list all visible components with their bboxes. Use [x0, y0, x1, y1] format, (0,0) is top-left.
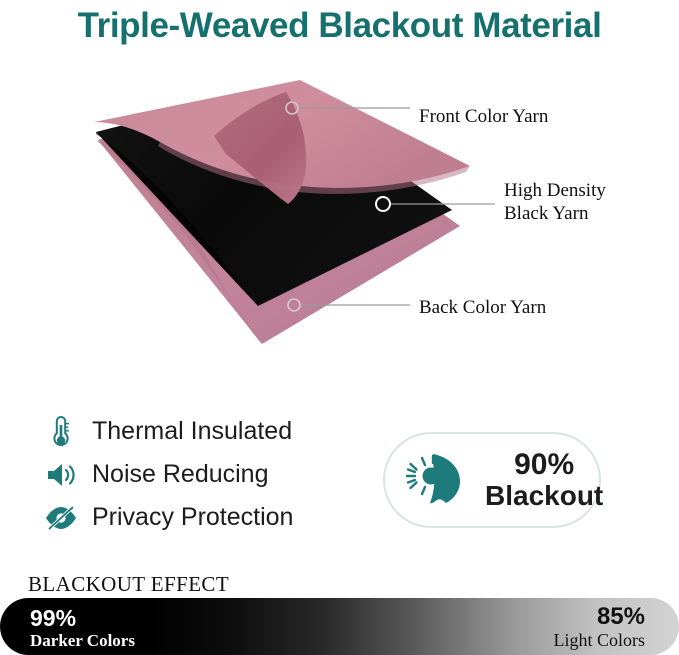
speaker-sound-icon: [40, 456, 82, 494]
effect-left-percent: 99%: [30, 606, 135, 631]
badge-text: 90% Blackout: [485, 449, 603, 510]
badge-word: Blackout: [485, 481, 603, 511]
effect-right-group: 85% Light Colors: [553, 604, 645, 651]
callout-label-middle-line1: High Density: [504, 179, 606, 202]
effect-right-caption: Light Colors: [553, 630, 645, 651]
callout-label-front: Front Color Yarn: [419, 105, 548, 128]
effect-left-group: 99% Darker Colors: [30, 606, 135, 650]
feature-list: Thermal Insulated Noise Reducing: [40, 410, 370, 539]
effect-left-caption: Darker Colors: [30, 631, 135, 651]
badge-percent: 90%: [485, 449, 603, 481]
feature-item-privacy: Privacy Protection: [40, 496, 370, 539]
feature-item-thermal: Thermal Insulated: [40, 410, 370, 453]
effect-right-percent: 85%: [553, 604, 645, 630]
feature-item-noise: Noise Reducing: [40, 453, 370, 496]
feature-label-thermal: Thermal Insulated: [92, 417, 292, 446]
feature-label-privacy: Privacy Protection: [92, 503, 293, 532]
page-title: Triple-Weaved Blackout Material: [0, 0, 679, 52]
blackout-effect-gradient-bar: 99% Darker Colors 85% Light Colors: [0, 598, 679, 655]
sun-curtain-icon: [401, 449, 475, 511]
eye-slash-icon: [40, 499, 82, 537]
callout-label-middle-line2: Black Yarn: [504, 202, 606, 225]
thermometer-icon: [40, 413, 82, 451]
blackout-effect-heading: BLACKOUT EFFECT: [28, 572, 229, 597]
feature-label-noise: Noise Reducing: [92, 460, 269, 489]
callout-label-middle: High Density Black Yarn: [504, 179, 606, 225]
blackout-badge: 90% Blackout: [383, 432, 601, 528]
infographic-page: Triple-Weaved Blackout Material: [0, 0, 679, 655]
callout-label-back: Back Color Yarn: [419, 296, 546, 319]
